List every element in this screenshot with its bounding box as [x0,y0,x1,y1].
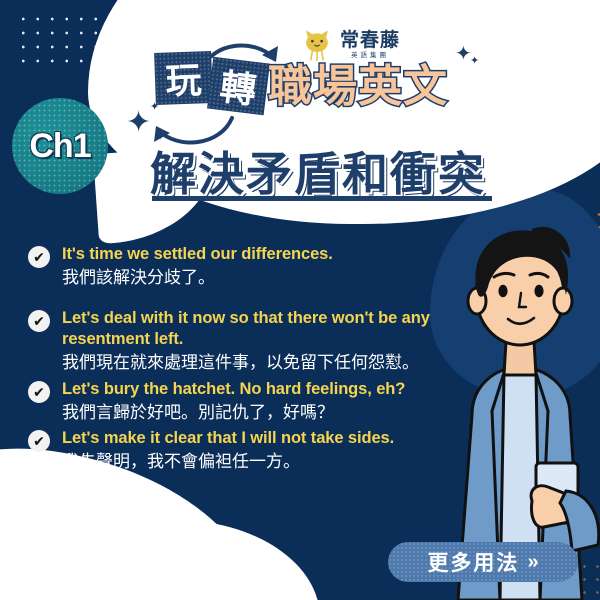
next-page-button[interactable] [542,107,584,149]
check-icon: ✔ [28,246,50,268]
sparkle-icon: ✦ [470,56,479,67]
phrase-chinese: 我們該解決分歧了。 [62,267,498,291]
phrase-list: ✔ It's time we settled our differences. … [28,244,498,484]
chevron-right-icon [553,118,573,138]
chapter-badge: Ch1 [12,98,108,194]
list-item: ✔ It's time we settled our differences. … [28,244,498,290]
chapter-badge-label: Ch1 [29,127,90,166]
check-icon: ✔ [28,310,50,332]
more-usage-button[interactable]: 更多用法 » [388,542,578,582]
check-icon: ✔ [28,430,50,452]
title-tag-1: 玩 [154,51,213,105]
title-tag-2: 轉 [207,57,270,116]
phrase-english: It's time we settled our differences. [62,244,498,265]
list-item: ✔ Let's bury the hatchet. No hard feelin… [28,379,498,425]
title-underline [152,196,492,201]
title-subtitle: 解決矛盾和衝突 [150,138,486,204]
double-chevron-right-icon: » [527,551,538,574]
brand-name: 常春藤 [340,31,400,50]
list-item: ✔ Let's make it clear that I will not ta… [28,428,498,474]
phrase-chinese: 我們言歸於好吧。別記仇了，好嗎？ [62,402,498,426]
list-item: ✔ Let's deal with it now so that there w… [28,308,498,375]
phrase-english: Let's make it clear that I will not take… [62,428,498,449]
phrase-chinese: 我們現在就來處理這件事，以免留下任何怨懟。 [62,352,498,376]
phrase-chinese: 我先聲明，我不會偏袒任一方。 [62,451,498,475]
poster-canvas: ✦ ✦ ✦ ✦ ✦ Ch1 常春藤 英語集團 [0,0,600,600]
more-usage-label: 更多用法 [427,547,519,577]
check-icon: ✔ [28,381,50,403]
title-main: 職場英文 [268,50,448,114]
phrase-english: Let's deal with it now so that there won… [62,308,498,349]
phrase-english: Let's bury the hatchet. No hard feelings… [62,379,498,400]
